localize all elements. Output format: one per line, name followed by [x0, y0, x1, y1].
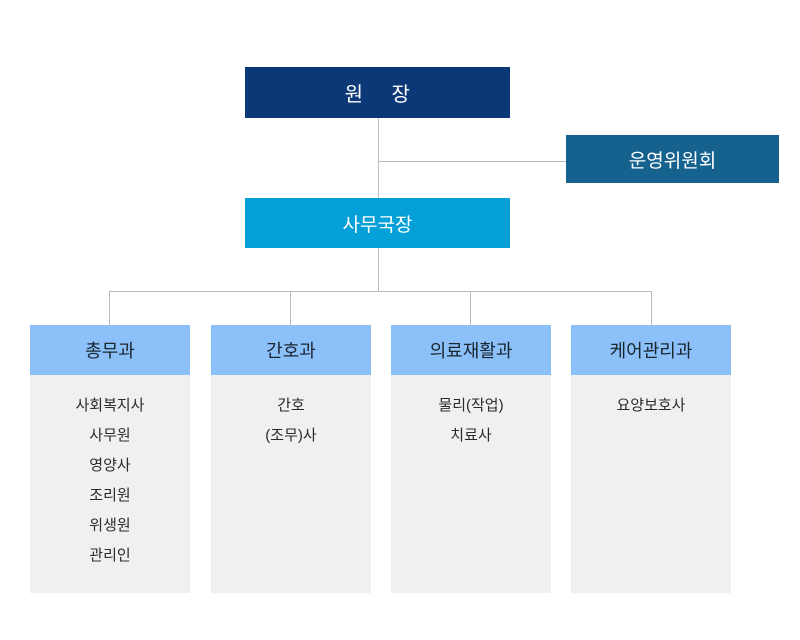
department-item: 조리원 [30, 481, 190, 511]
department-item: 관리인 [30, 541, 190, 571]
connector-department-bus [109, 291, 651, 292]
department-column-1: 총무과 사회복지사 사무원 영양사 조리원 위생원 관리인 [30, 325, 190, 593]
node-director: 원 장 [245, 67, 510, 118]
department-item: 사회복지사 [30, 391, 190, 421]
connector-director-to-secgen [378, 118, 379, 198]
node-secretary-general: 사무국장 [245, 198, 510, 248]
connector-director-to-committee [378, 161, 566, 162]
department-item: 위생원 [30, 511, 190, 541]
department-item: (조무)사 [211, 421, 371, 451]
department-column-2: 간호과 간호 (조무)사 [211, 325, 371, 593]
department-item: 간호 [211, 391, 371, 421]
department-header-3: 의료재활과 [391, 325, 551, 375]
department-header-1: 총무과 [30, 325, 190, 375]
department-body-3: 물리(작업) 치료사 [391, 375, 551, 593]
department-header-label-3: 의료재활과 [430, 337, 513, 363]
department-header-label-4: 케어관리과 [610, 337, 693, 363]
connector-drop-dept-1 [109, 291, 110, 325]
node-secretary-general-label: 사무국장 [343, 210, 413, 237]
organization-chart: 원 장 운영위원회 사무국장 총무과 사회복지사 사무원 영양사 조리원 위생원… [0, 0, 800, 640]
connector-drop-dept-2 [290, 291, 291, 325]
department-header-4: 케어관리과 [571, 325, 731, 375]
department-item: 물리(작업) [391, 391, 551, 421]
department-body-4: 요양보호사 [571, 375, 731, 593]
department-item: 치료사 [391, 421, 551, 451]
department-body-2: 간호 (조무)사 [211, 375, 371, 593]
department-item: 영양사 [30, 451, 190, 481]
department-header-label-1: 총무과 [85, 337, 135, 363]
node-committee-label: 운영위원회 [629, 146, 716, 173]
department-column-4: 케어관리과 요양보호사 [571, 325, 731, 593]
node-committee: 운영위원회 [566, 135, 779, 183]
department-column-3: 의료재활과 물리(작업) 치료사 [391, 325, 551, 593]
connector-secgen-trunk [378, 248, 379, 291]
connector-drop-dept-4 [651, 291, 652, 325]
department-header-2: 간호과 [211, 325, 371, 375]
department-item: 요양보호사 [571, 391, 731, 421]
department-item: 사무원 [30, 421, 190, 451]
node-director-label: 원 장 [345, 78, 411, 107]
connector-drop-dept-3 [470, 291, 471, 325]
department-header-label-2: 간호과 [266, 337, 316, 363]
department-body-1: 사회복지사 사무원 영양사 조리원 위생원 관리인 [30, 375, 190, 593]
